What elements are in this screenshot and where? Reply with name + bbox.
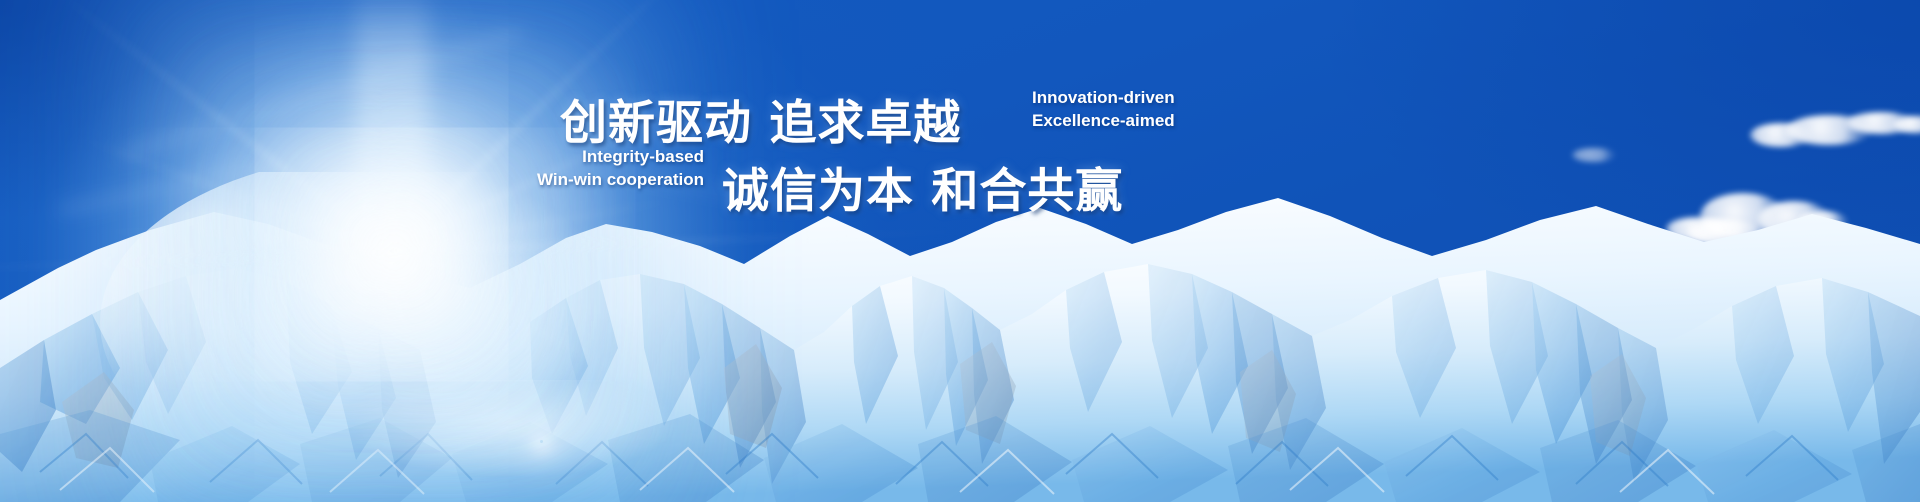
sun-icon (390, 250, 392, 252)
mountain-range (0, 172, 1920, 502)
hero-banner: 创新驱动 追求卓越 Innovation-driven Excellence-a… (0, 0, 1920, 502)
slogan-english-right: Innovation-driven Excellence-aimed (1032, 86, 1175, 132)
snow-specular-spark (540, 440, 543, 443)
slogan-english-left-line-2: Win-win cooperation (532, 168, 704, 191)
sun-light-pillar (356, 0, 428, 280)
slogan-english-left: Integrity-based Win-win cooperation (532, 145, 704, 191)
slogan-chinese-line-1: 创新驱动 追求卓越 (560, 84, 961, 153)
slogan-chinese-line-2: 诚信为本 和合共赢 (722, 152, 1123, 221)
slogan-english-left-line-1: Integrity-based (532, 145, 704, 168)
slogan-english-right-line-1: Innovation-driven (1032, 86, 1175, 109)
slogan-english-right-line-2: Excellence-aimed (1032, 109, 1175, 132)
